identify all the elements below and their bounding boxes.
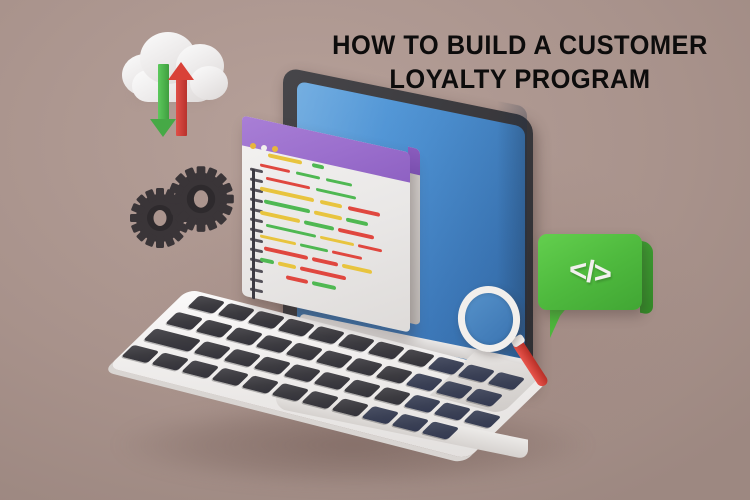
code-line-segment <box>316 187 356 199</box>
code-line-segment <box>266 176 310 189</box>
code-line-segment <box>348 206 380 217</box>
arrow-shaft <box>176 78 187 136</box>
code-line-segment <box>338 228 374 240</box>
illustration-canvas: HOW TO BUILD A CUSTOMER LOYALTY PROGRAM <box>0 0 750 500</box>
keyboard-key <box>421 421 459 440</box>
magnifying-glass-icon <box>452 282 562 394</box>
code-line-segment <box>264 247 308 260</box>
code-line-segment <box>296 171 320 180</box>
code-line-segment <box>312 257 338 266</box>
keyboard-key <box>143 328 201 352</box>
cloud-sync-icon <box>112 22 242 140</box>
settings-gears-icon <box>128 162 240 274</box>
code-line-segment <box>266 223 316 238</box>
code-gutter-divider <box>252 169 255 300</box>
code-line-segment <box>320 200 342 208</box>
upload-arrow-icon <box>168 62 195 136</box>
code-line-segment <box>320 235 354 246</box>
code-line-segment <box>260 210 300 222</box>
page-title-line-2: LOYALTY PROGRAM <box>309 62 731 96</box>
window-dot-yellow-right-icon <box>272 146 278 152</box>
cloud-puff <box>190 66 228 100</box>
arrow-head <box>168 62 194 80</box>
code-line-segment <box>286 275 308 283</box>
code-line-segment <box>300 243 328 253</box>
code-line-segment <box>342 264 372 274</box>
page-title: HOW TO BUILD A CUSTOMER LOYALTY PROGRAM <box>300 28 740 96</box>
window-dot-white-icon <box>261 145 267 151</box>
code-editor-window <box>236 120 416 320</box>
code-line-segment <box>278 262 296 270</box>
code-line-segment <box>312 281 336 290</box>
code-line-segment <box>304 220 334 230</box>
code-line-segment <box>260 234 296 246</box>
code-line-segment <box>300 266 346 280</box>
code-line-segment <box>260 163 290 173</box>
page-title-line-1: HOW TO BUILD A CUSTOMER <box>309 28 731 62</box>
keyboard-key <box>463 410 501 429</box>
code-line-segment <box>314 211 342 221</box>
gear-right-icon <box>166 164 236 234</box>
code-line-segment <box>332 250 362 260</box>
window-dot-yellow-left-icon <box>250 143 256 149</box>
code-line-segment <box>260 258 274 265</box>
code-line-segment <box>326 178 352 187</box>
code-line-segment <box>346 218 368 226</box>
code-line-segment <box>358 244 382 253</box>
code-line-segment <box>264 199 310 213</box>
